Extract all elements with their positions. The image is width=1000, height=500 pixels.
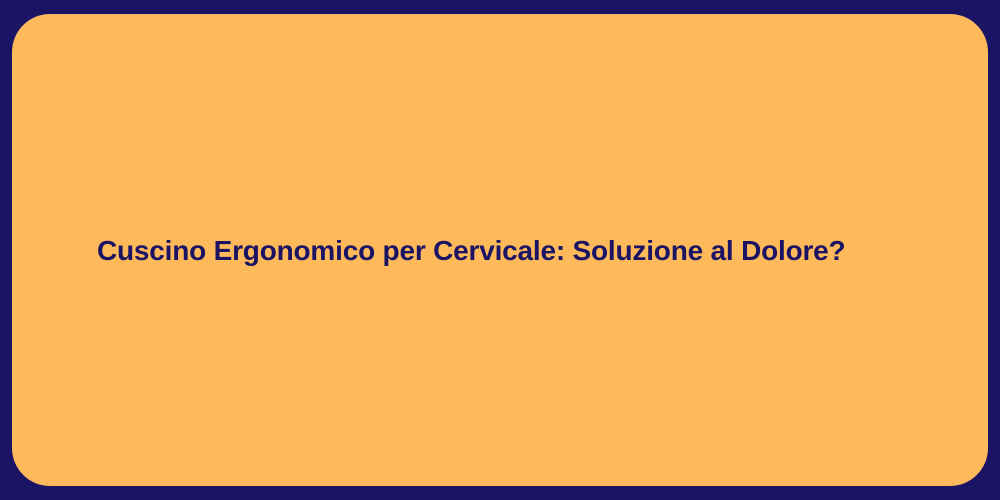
page-background: Cuscino Ergonomico per Cervicale: Soluzi… xyxy=(0,0,1000,500)
title-card: Cuscino Ergonomico per Cervicale: Soluzi… xyxy=(12,14,988,486)
page-title: Cuscino Ergonomico per Cervicale: Soluzi… xyxy=(97,233,845,268)
